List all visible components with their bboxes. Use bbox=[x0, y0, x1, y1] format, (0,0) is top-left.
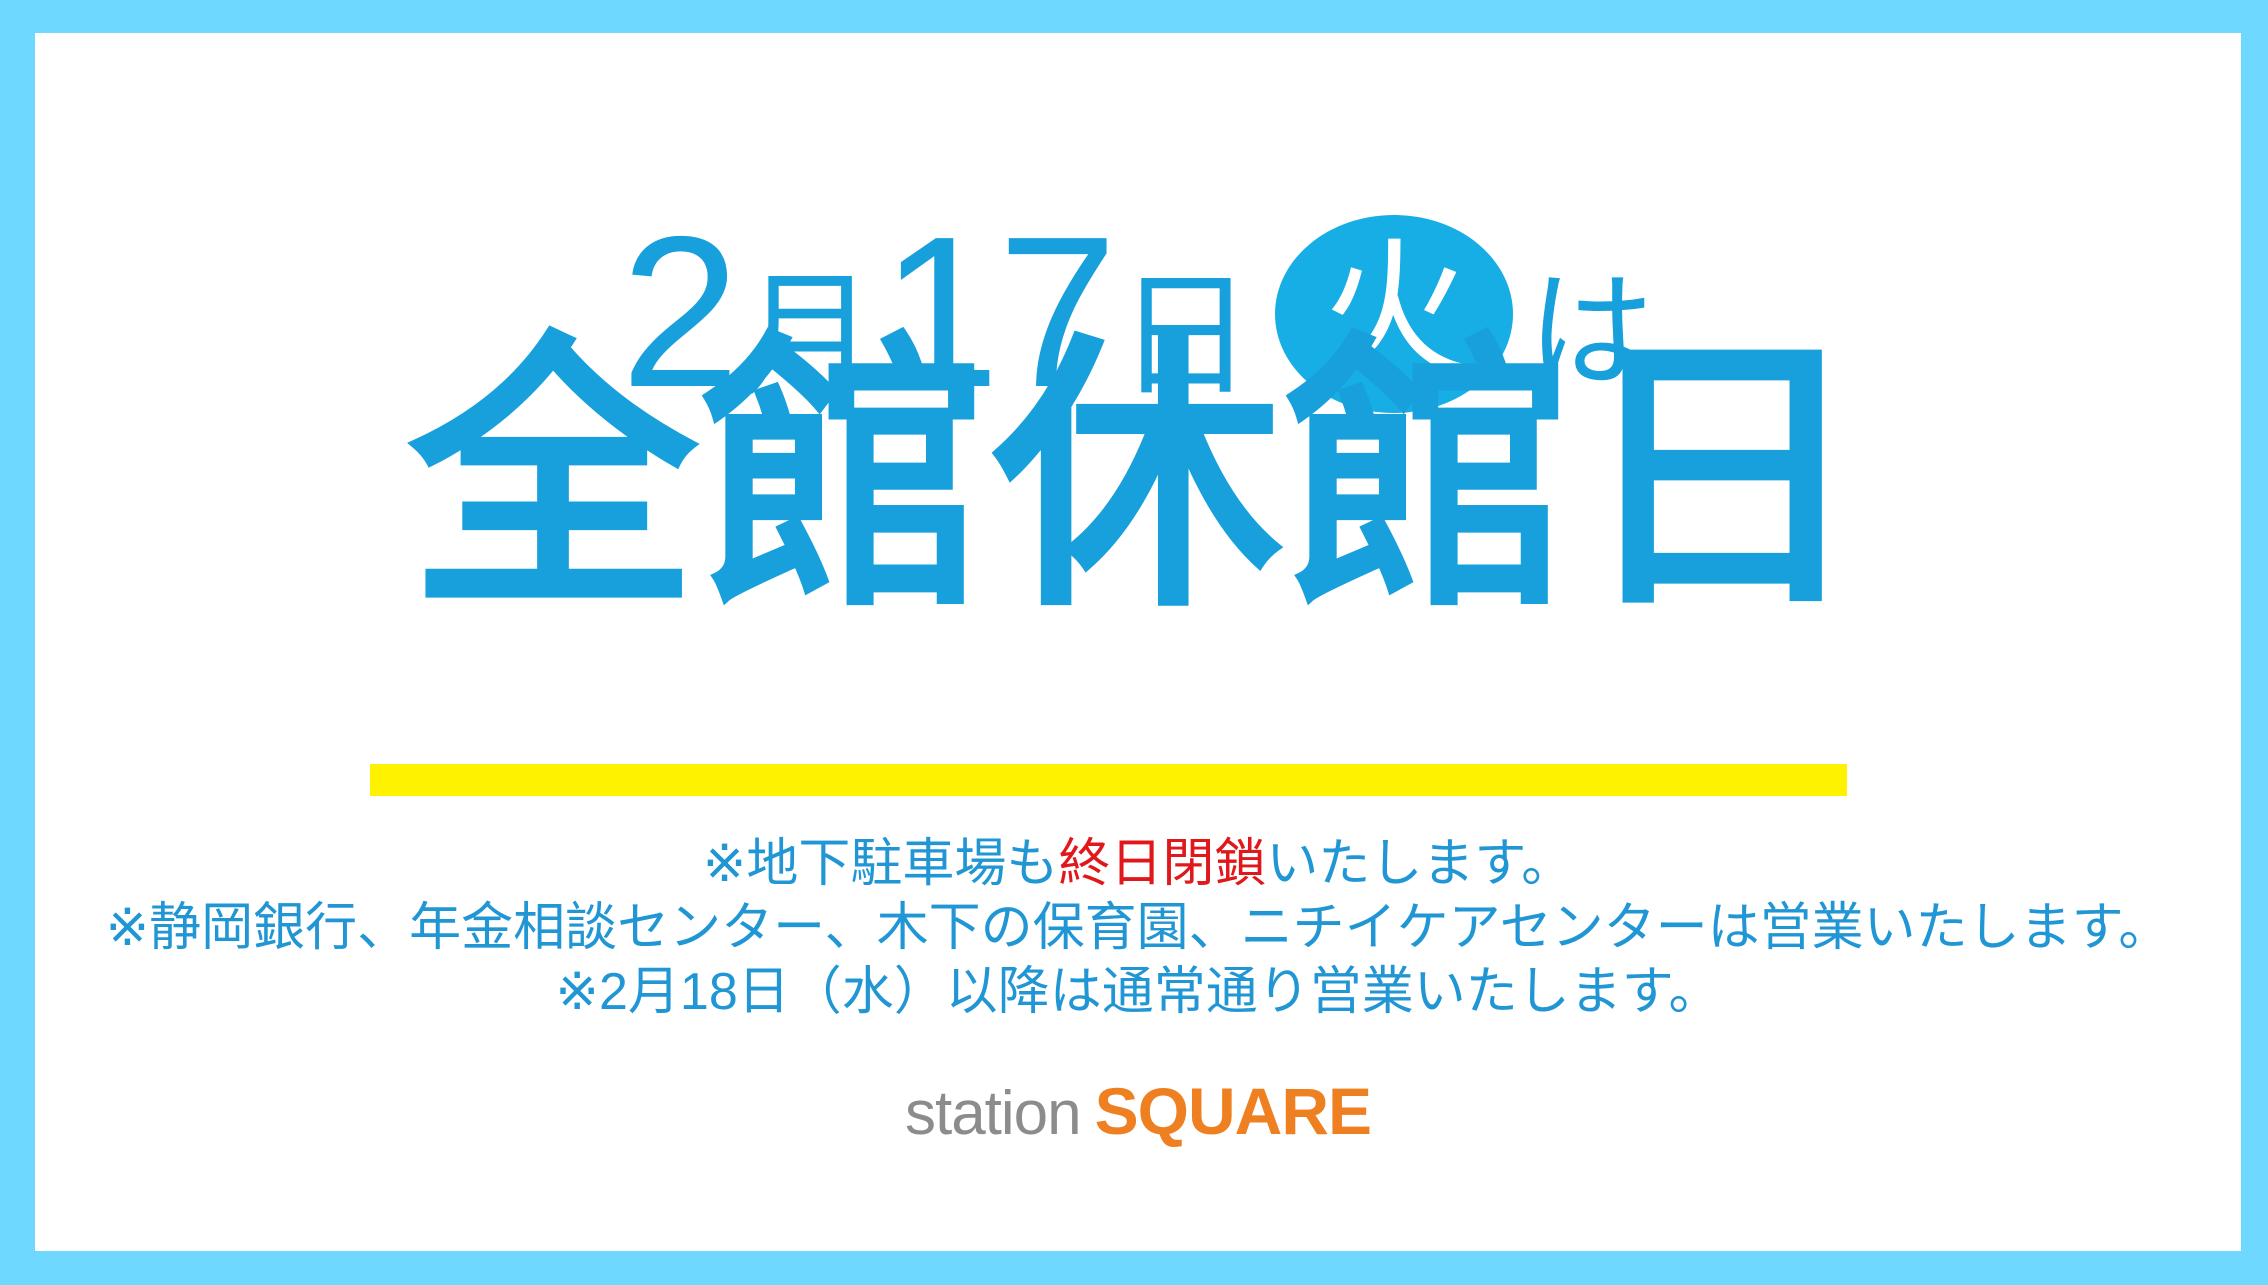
yellow-underline-bar bbox=[370, 764, 1847, 796]
station-square-logo: stationSQUARE bbox=[35, 1073, 2241, 1149]
poster-canvas: 2 月 17 日 火 は 全館休館日 ※地下駐車場も終日閉鎖いたします。 ※静岡… bbox=[0, 0, 2268, 1285]
logo-square-text: SQUARE bbox=[1095, 1074, 1371, 1148]
white-content-panel: 2 月 17 日 火 は 全館休館日 ※地下駐車場も終日閉鎖いたします。 ※静岡… bbox=[35, 33, 2241, 1251]
main-title: 全館休館日 bbox=[35, 333, 2241, 623]
note-line-1: ※地下駐車場も終日閉鎖いたします。 bbox=[35, 833, 2241, 897]
note-line-1-prefix: ※地下駐車場も bbox=[703, 835, 1059, 893]
note-line-3: ※2月18日（水）以降は通常通り営業いたします。 bbox=[35, 961, 2241, 1025]
note-line-1-suffix: いたします。 bbox=[1266, 835, 1573, 893]
notes-block: ※地下駐車場も終日閉鎖いたします。 ※静岡銀行、年金相談センター、木下の保育園、… bbox=[35, 833, 2241, 1025]
note-line-2: ※静岡銀行、年金相談センター、木下の保育園、ニチイケアセンターは営業いたします。 bbox=[35, 897, 2241, 961]
logo-station-text: station bbox=[905, 1079, 1081, 1148]
note-line-1-emphasis: 終日閉鎖 bbox=[1058, 835, 1266, 893]
